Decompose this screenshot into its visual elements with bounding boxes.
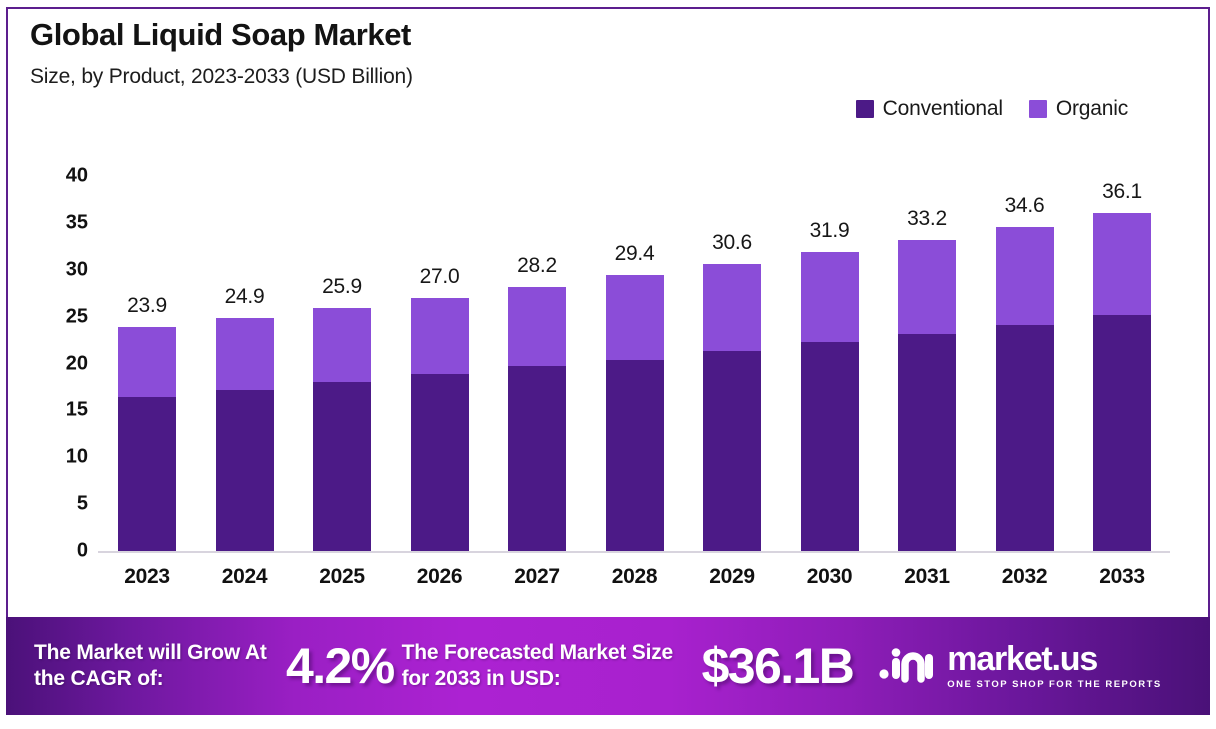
forecast-label: The Forecasted Market Size for 2033 in U… <box>402 640 702 691</box>
legend-item-conventional[interactable]: Conventional <box>856 97 1003 121</box>
logo-tagline: ONE STOP SHOP FOR THE REPORTS <box>947 679 1162 690</box>
cagr-block: The Market will Grow At the CAGR of: 4.2… <box>34 637 394 695</box>
legend-label-conventional: Conventional <box>883 97 1003 121</box>
chart-legend: Conventional Organic <box>856 97 1128 121</box>
square-swatch-icon <box>856 100 874 118</box>
legend-item-organic[interactable]: Organic <box>1029 97 1128 121</box>
page-title: Global Liquid Soap Market <box>30 18 1180 52</box>
forecast-value: $36.1B <box>702 637 854 695</box>
summary-banner: The Market will Grow At the CAGR of: 4.2… <box>6 617 1210 715</box>
infographic-root: Global Liquid Soap Market Size, by Produ… <box>0 0 1216 729</box>
header: Global Liquid Soap Market Size, by Produ… <box>30 18 1180 89</box>
logo-name: market.us <box>947 642 1162 676</box>
market-us-logo[interactable]: market.us ONE STOP SHOP FOR THE REPORTS <box>879 642 1162 690</box>
market-us-logo-icon <box>879 644 935 688</box>
forecast-block: The Forecasted Market Size for 2033 in U… <box>402 637 854 695</box>
page-subtitle: Size, by Product, 2023-2033 (USD Billion… <box>30 65 1180 89</box>
legend-label-organic: Organic <box>1056 97 1128 121</box>
cagr-value: 4.2% <box>286 637 394 695</box>
square-swatch-icon <box>1029 100 1047 118</box>
cagr-label: The Market will Grow At the CAGR of: <box>34 640 286 691</box>
logo-wordmark: market.us ONE STOP SHOP FOR THE REPORTS <box>947 642 1162 690</box>
